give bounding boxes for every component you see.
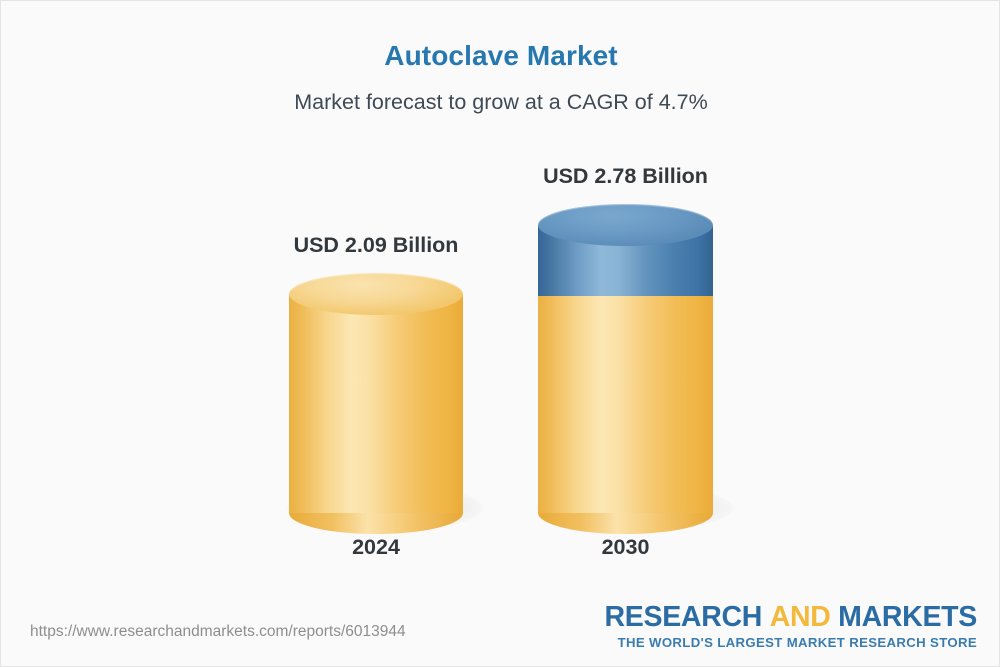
- bar-2024-top-cap: [289, 273, 463, 315]
- chart-canvas: Autoclave Market Market forecast to grow…: [0, 0, 1000, 667]
- bar-2024-segment-base-body: [289, 294, 463, 513]
- bar-2024[interactable]: [289, 273, 463, 531]
- bar-2030[interactable]: [538, 204, 713, 531]
- chart-title: Autoclave Market: [1, 40, 1000, 72]
- bar-2024-segment-base: [289, 294, 463, 513]
- chart-subtitle: Market forecast to grow at a CAGR of 4.7…: [1, 90, 1000, 115]
- brand-logo-word-research: RESEARCH: [605, 601, 763, 633]
- brand-logo-tagline: THE WORLD'S LARGEST MARKET RESEARCH STOR…: [605, 635, 977, 650]
- year-label-2024: 2024: [289, 535, 463, 560]
- value-label-2024: USD 2.09 Billion: [289, 233, 463, 258]
- brand-logo-wordmark: RESEARCH AND MARKETS: [605, 603, 977, 632]
- bar-2030-segment-base-body: [538, 296, 713, 513]
- bar-2030-top-cap: [538, 204, 713, 246]
- source-url[interactable]: https://www.researchandmarkets.com/repor…: [30, 623, 406, 641]
- brand-logo[interactable]: RESEARCH AND MARKETS THE WORLD'S LARGEST…: [605, 603, 977, 650]
- year-label-2030: 2030: [538, 535, 713, 560]
- brand-logo-word-and: AND: [770, 601, 831, 633]
- value-label-2030: USD 2.78 Billion: [538, 164, 713, 189]
- bar-2030-segment-base: [538, 296, 713, 513]
- brand-logo-word-markets: MARKETS: [838, 601, 977, 633]
